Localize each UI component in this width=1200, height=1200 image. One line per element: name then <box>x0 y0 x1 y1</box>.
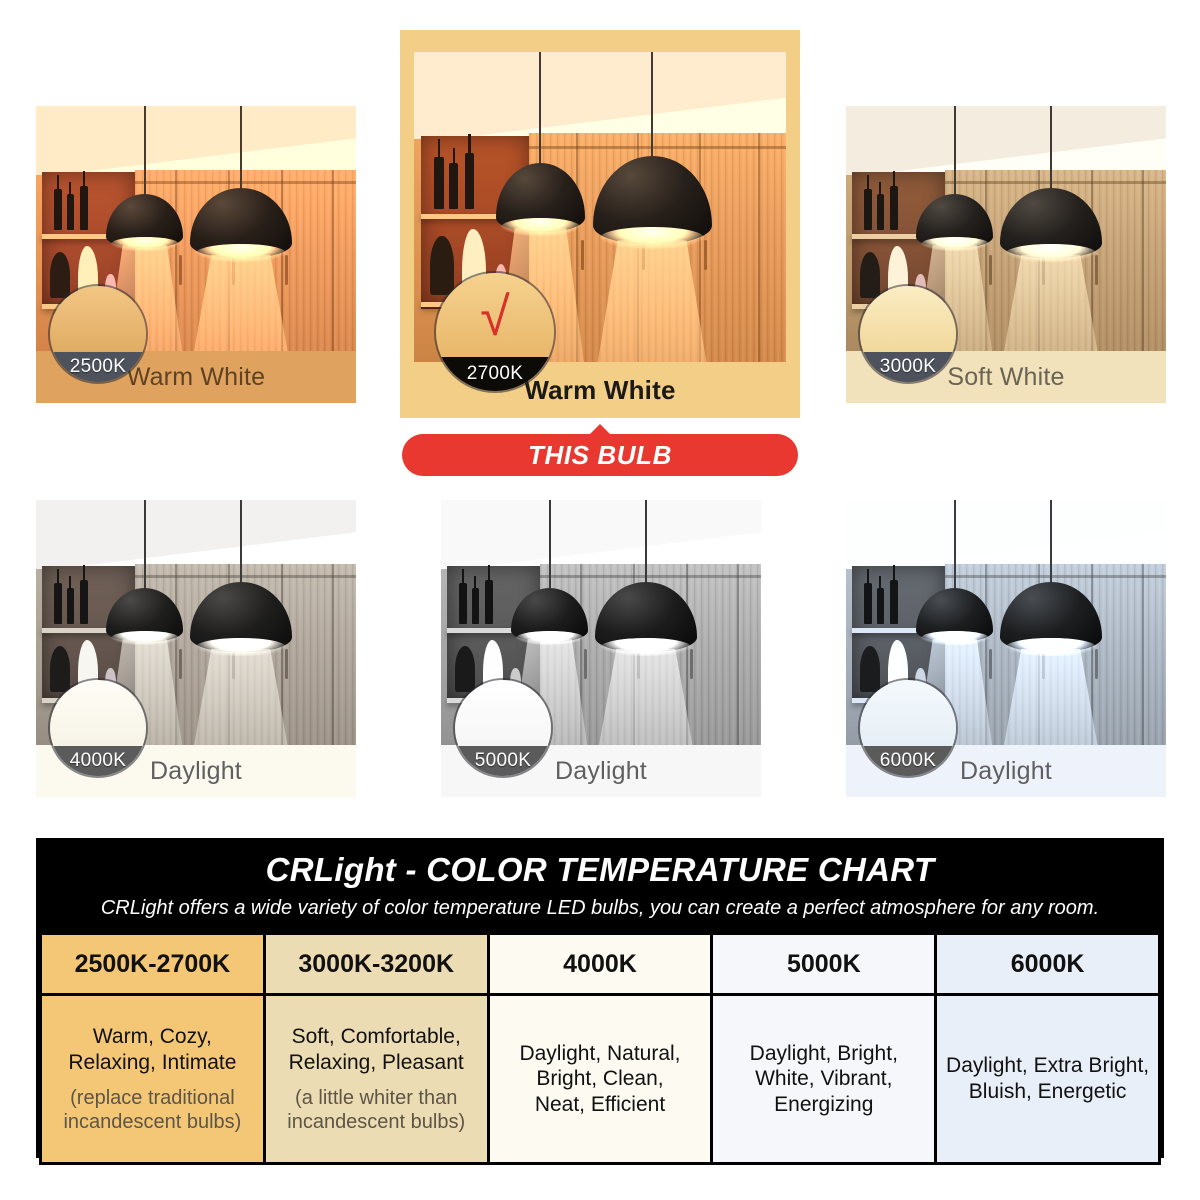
col-header-2500k: 2500K-2700K <box>41 934 265 995</box>
chart-title: CRLight - COLOR TEMPERATURE CHART <box>53 851 1147 889</box>
swatch-band-2700k: 2700K <box>436 357 554 391</box>
cell-main-2500k: Warm, Cozy,Relaxing, Intimate <box>48 1024 257 1075</box>
swatch-temp-6000k: 6000K <box>880 750 936 772</box>
swatch-4000k: 4000K <box>50 680 146 776</box>
panel-grid: Warm White 2500K <box>0 0 1200 820</box>
panel-label-4000k: Daylight <box>150 757 242 786</box>
callout-pill: THIS BULB <box>402 434 798 476</box>
panel-label-5000k: Daylight <box>555 757 647 786</box>
col-cell-5000k: Daylight, Bright,White, Vibrant,Energizi… <box>712 995 936 1164</box>
panel-label-2500k: Warm White <box>127 363 266 392</box>
col-cell-6000k: Daylight, Extra Bright,Bluish, Energetic <box>936 995 1160 1164</box>
swatch-band-3000k: 3000K <box>860 352 956 382</box>
swatch-2500k: 2500K <box>50 286 146 382</box>
panel-3000k[interactable]: Soft White 3000K <box>846 106 1166 403</box>
table-header-row: 2500K-2700K 3000K-3200K 4000K 5000K 6000… <box>41 934 1160 995</box>
swatch-temp-4000k: 4000K <box>70 750 126 772</box>
panel-2700k[interactable]: Warm White √ 2700K <box>400 30 800 418</box>
swatch-5000k: 5000K <box>455 680 551 776</box>
col-cell-4000k: Daylight, Natural,Bright, Clean,Neat, Ef… <box>488 995 712 1164</box>
swatch-3000k: 3000K <box>860 286 956 382</box>
chart-table: 2500K-2700K 3000K-3200K 4000K 5000K 6000… <box>39 932 1161 1165</box>
cell-main-4000k: Daylight, Natural,Bright, Clean,Neat, Ef… <box>496 1041 705 1118</box>
cell-note-3000k: (a little whiter thanincandescent bulbs) <box>272 1086 481 1134</box>
chart-subtitle: CRLight offers a wide variety of color t… <box>53 897 1147 920</box>
col-header-5000k: 5000K <box>712 934 936 995</box>
table-row: Warm, Cozy,Relaxing, Intimate (replace t… <box>41 995 1160 1164</box>
cell-note-2500k: (replace traditionalincandescent bulbs) <box>48 1086 257 1134</box>
check-icon: √ <box>436 290 554 344</box>
col-header-4000k: 4000K <box>488 934 712 995</box>
col-cell-2500k: Warm, Cozy,Relaxing, Intimate (replace t… <box>41 995 265 1164</box>
this-bulb-callout: THIS BULB <box>402 424 798 476</box>
color-temperature-chart: CRLight - COLOR TEMPERATURE CHART CRLigh… <box>36 838 1164 1158</box>
swatch-band-6000k: 6000K <box>860 746 956 776</box>
swatch-temp-2700k: 2700K <box>467 363 523 385</box>
col-header-6000k: 6000K <box>936 934 1160 995</box>
swatch-2700k: √ 2700K <box>436 273 554 391</box>
panel-label-6000k: Daylight <box>960 757 1052 786</box>
panel-label-3000k: Soft White <box>947 363 1064 392</box>
cell-main-5000k: Daylight, Bright,White, Vibrant,Energizi… <box>719 1041 928 1118</box>
swatch-temp-5000k: 5000K <box>475 750 531 772</box>
chart-header: CRLight - COLOR TEMPERATURE CHART CRLigh… <box>39 841 1161 932</box>
col-cell-3000k: Soft, Comfortable,Relaxing, Pleasant (a … <box>264 995 488 1164</box>
swatch-temp-2500k: 2500K <box>70 356 126 378</box>
swatch-band-4000k: 4000K <box>50 746 146 776</box>
swatch-band-2500k: 2500K <box>50 352 146 382</box>
swatch-temp-3000k: 3000K <box>880 356 936 378</box>
panel-4000k[interactable]: Daylight 4000K <box>36 500 356 797</box>
panel-2500k[interactable]: Warm White 2500K <box>36 106 356 403</box>
panel-5000k[interactable]: Daylight 5000K <box>441 500 761 797</box>
cell-main-6000k: Daylight, Extra Bright,Bluish, Energetic <box>943 1053 1152 1104</box>
swatch-band-5000k: 5000K <box>455 746 551 776</box>
col-header-3000k: 3000K-3200K <box>264 934 488 995</box>
cell-main-3000k: Soft, Comfortable,Relaxing, Pleasant <box>272 1024 481 1075</box>
swatch-6000k: 6000K <box>860 680 956 776</box>
callout-label: THIS BULB <box>528 440 672 471</box>
panel-6000k[interactable]: Daylight 6000K <box>846 500 1166 797</box>
